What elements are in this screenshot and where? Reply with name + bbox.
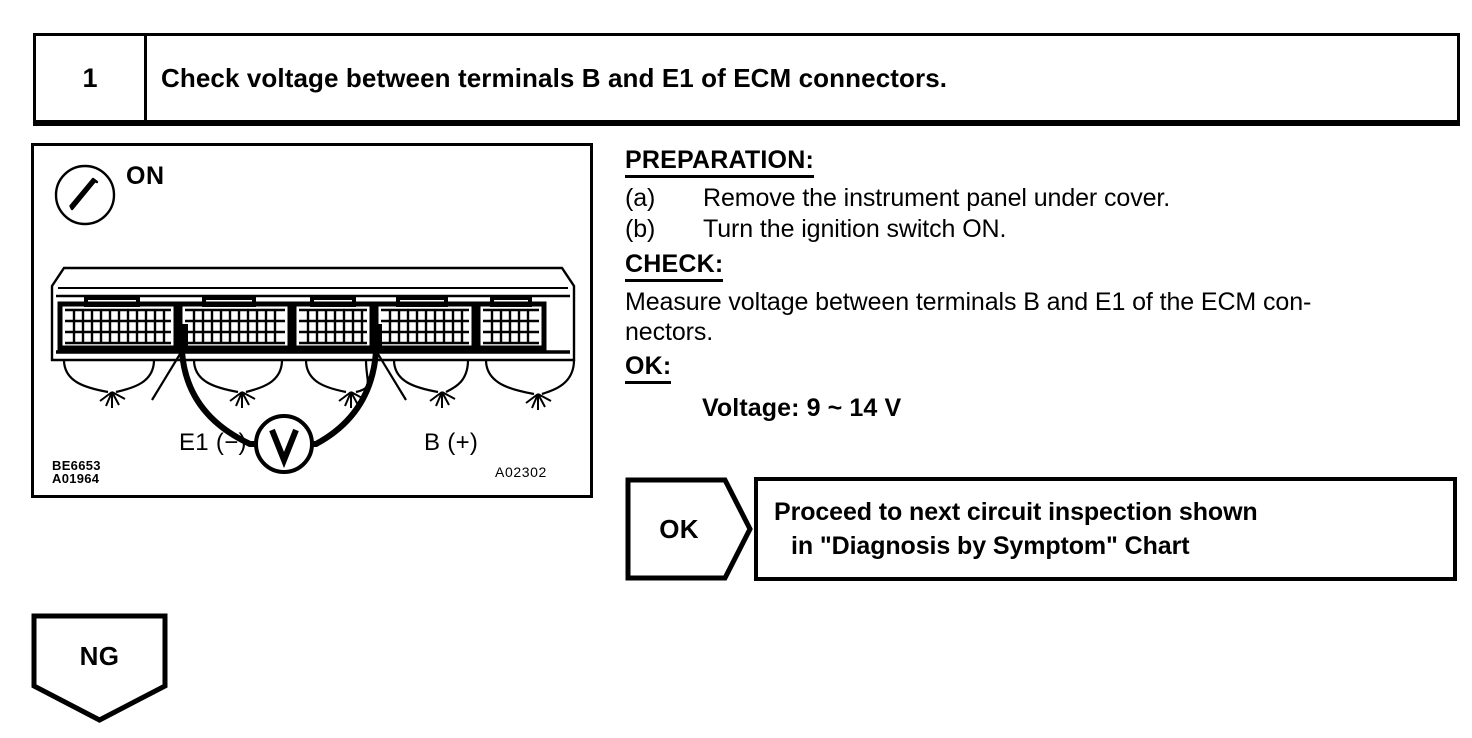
step-header-box: 1 Check voltage between terminals B and …	[33, 33, 1460, 126]
terminal-e1-contact	[176, 324, 188, 352]
voltmeter-icon	[256, 416, 312, 472]
step-title-cell: Check voltage between terminals B and E1…	[161, 36, 947, 120]
step-title-text: Check voltage between terminals B and E1…	[161, 63, 947, 94]
preparation-step-a: (a) Remove the instrument panel under co…	[625, 183, 1470, 214]
preparation-step-b: (b) Turn the ignition switch ON.	[625, 214, 1470, 245]
ok-heading: OK:	[625, 352, 671, 384]
step-number: 1	[82, 65, 97, 92]
terminal-e1-label: E1 (−)	[179, 429, 247, 457]
preparation-step-a-marker: (a)	[625, 183, 703, 214]
step-number-cell: 1	[36, 36, 147, 120]
ok-marker-label: OK	[625, 477, 733, 581]
preparation-step-b-marker: (b)	[625, 214, 703, 245]
ok-result-row: OK Proceed to next circuit inspection sh…	[625, 477, 1457, 581]
ok-result-line1: Proceed to next circuit inspection shown	[774, 495, 1453, 530]
preparation-step-b-text: Turn the ignition switch ON.	[703, 214, 1006, 245]
check-text-line2: nectors.	[625, 317, 1470, 347]
terminal-b-contact	[370, 324, 382, 352]
illustration-panel: ON	[31, 143, 593, 498]
preparation-heading: PREPARATION:	[625, 146, 814, 178]
terminal-b-label: B (+)	[424, 429, 478, 457]
ignition-key-switch-icon	[54, 164, 116, 226]
figure-code-left: BE6653 A01964	[52, 459, 101, 485]
voltage-specification: Voltage: 9 ~ 14 V	[702, 393, 1470, 423]
check-heading: CHECK:	[625, 250, 723, 282]
check-text-line1: Measure voltage between terminals B and …	[625, 287, 1470, 317]
ok-result-textbox: Proceed to next circuit inspection shown…	[754, 477, 1457, 581]
ng-result-marker: NG	[31, 613, 168, 723]
ignition-state-label: ON	[126, 162, 165, 191]
ok-result-line2: in "Diagnosis by Symptom" Chart	[774, 529, 1453, 564]
info-panel: PREPARATION: (a) Remove the instrument p…	[625, 146, 1470, 423]
ng-marker-label: NG	[31, 613, 168, 699]
preparation-step-a-text: Remove the instrument panel under cover.	[703, 183, 1170, 214]
figure-code-line2: A01964	[52, 472, 101, 485]
figure-code-right: A02302	[495, 464, 547, 480]
ecm-connector-diagram	[34, 264, 590, 494]
